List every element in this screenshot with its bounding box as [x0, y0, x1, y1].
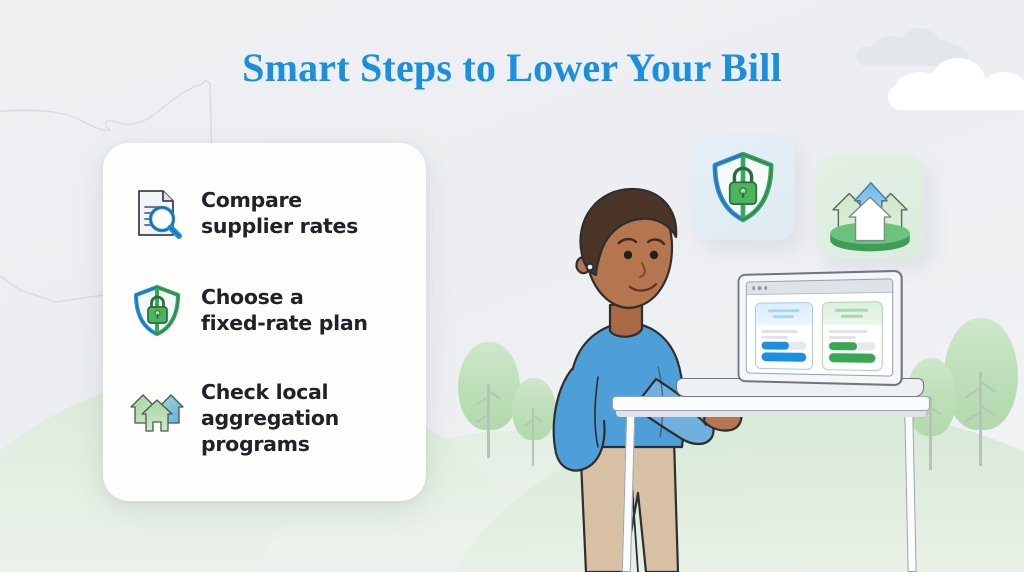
steps-card: Compare supplier rates Choose a fixed — [103, 143, 426, 501]
three-houses-icon — [129, 377, 185, 445]
step-item-label: Choose a fixed-rate plan — [201, 282, 368, 336]
shield-lock-icon — [129, 282, 185, 338]
infographic-canvas: Smart Steps to Lower Your Bill — [0, 0, 1024, 572]
step-label-line-1: Compare — [201, 188, 302, 212]
plan-card-blue-header — [756, 303, 812, 325]
plan-green-select-button[interactable] — [828, 353, 875, 363]
step-item-label: Compare supplier rates — [201, 185, 358, 239]
window-dot-minimize-icon — [758, 286, 761, 289]
aggregation-badge — [816, 155, 924, 259]
plan-card-green[interactable] — [821, 301, 882, 371]
desk-top — [612, 396, 930, 411]
plan-comparison-area — [747, 293, 892, 377]
houses-platform-icon — [820, 161, 920, 255]
step-label-line-2: fixed-rate plan — [201, 311, 368, 335]
page-title: Smart Steps to Lower Your Bill — [0, 44, 1024, 91]
plan-card-green-body — [822, 325, 881, 370]
laptop-screen-inner — [746, 278, 893, 376]
step-item-compare-supplier-rates[interactable]: Compare supplier rates — [129, 185, 405, 241]
plan-card-green-header — [822, 302, 881, 325]
plan-blue-select-button[interactable] — [762, 353, 806, 362]
step-label-line-2: aggregation — [201, 406, 339, 430]
window-dot-maximize-icon — [764, 286, 767, 289]
window-dot-close-icon — [752, 287, 755, 290]
document-magnifier-icon — [129, 185, 185, 241]
plan-blue-progress-bar — [762, 342, 806, 350]
laptop-comparison-screen[interactable] — [738, 270, 903, 386]
step-item-choose-fixed-rate-plan[interactable]: Choose a fixed-rate plan — [129, 282, 405, 338]
plan-green-progress-bar — [828, 342, 875, 350]
step-item-label: Check local aggregation programs — [201, 377, 339, 457]
step-label-line-3: programs — [201, 432, 310, 456]
plan-card-blue[interactable] — [755, 302, 813, 370]
plan-card-blue-body — [756, 325, 812, 369]
step-label-line-1: Check local — [201, 380, 328, 404]
step-item-check-local-aggregation[interactable]: Check local aggregation programs — [129, 377, 405, 457]
step-label-line-1: Choose a — [201, 285, 303, 309]
desk-edge — [616, 410, 926, 417]
step-label-line-2: supplier rates — [201, 214, 358, 238]
